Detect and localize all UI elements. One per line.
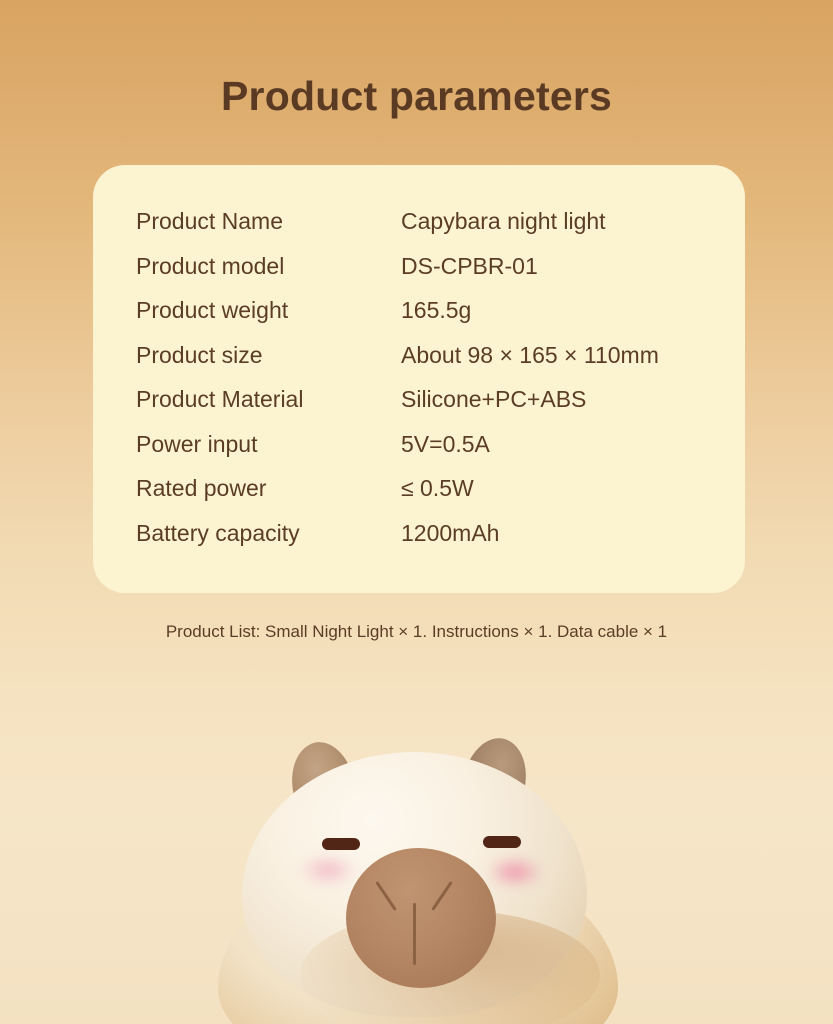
table-row: Rated power ≤ 0.5W <box>136 476 659 521</box>
table-row: Product weight 165.5g <box>136 298 659 343</box>
table-row: Product Name Capybara night light <box>136 209 659 254</box>
spec-label: Product weight <box>136 298 401 322</box>
spec-table: Product Name Capybara night light Produc… <box>136 209 659 565</box>
capybara-right-eye <box>483 836 521 848</box>
spec-value: 5V=0.5A <box>401 432 490 456</box>
spec-value: Capybara night light <box>401 209 606 233</box>
spec-label: Product Material <box>136 387 401 411</box>
spec-card: Product Name Capybara night light Produc… <box>93 165 745 593</box>
product-list-note: Product List: Small Night Light × 1. Ins… <box>0 622 833 642</box>
table-row: Battery capacity 1200mAh <box>136 521 659 566</box>
spec-label: Battery capacity <box>136 521 401 545</box>
page-title: Product parameters <box>0 73 833 120</box>
table-row: Product size About 98 × 165 × 110mm <box>136 343 659 388</box>
spec-label: Rated power <box>136 476 401 500</box>
table-row: Product model DS-CPBR-01 <box>136 254 659 299</box>
capybara-muzzle <box>346 848 496 988</box>
table-row: Product Material Silicone+PC+ABS <box>136 387 659 432</box>
spec-value: 165.5g <box>401 298 471 322</box>
spec-value: DS-CPBR-01 <box>401 254 538 278</box>
spec-value: ≤ 0.5W <box>401 476 474 500</box>
capybara-left-eye <box>322 838 360 850</box>
spec-value: Silicone+PC+ABS <box>401 387 586 411</box>
capybara-left-blush <box>300 855 356 885</box>
table-row: Power input 5V=0.5A <box>136 432 659 477</box>
spec-value: 1200mAh <box>401 521 499 545</box>
spec-label: Product model <box>136 254 401 278</box>
spec-label: Product size <box>136 343 401 367</box>
capybara-right-blush <box>487 857 543 887</box>
capybara-mouth-stem <box>413 903 416 965</box>
spec-value: About 98 × 165 × 110mm <box>401 343 659 367</box>
spec-label: Product Name <box>136 209 401 233</box>
spec-label: Power input <box>136 432 401 456</box>
